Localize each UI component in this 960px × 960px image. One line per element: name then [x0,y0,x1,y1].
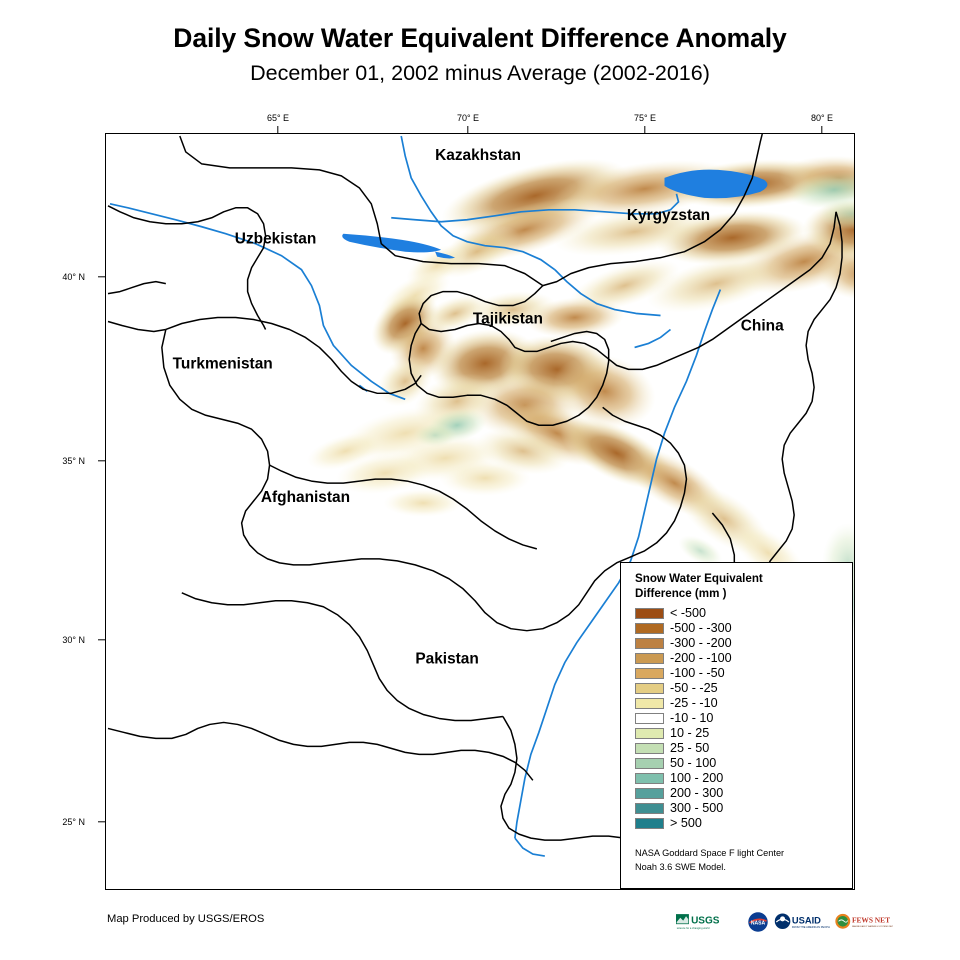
page-subtitle: December 01, 2002 minus Average (2002-20… [0,62,960,86]
svg-text:science for a changing world: science for a changing world [677,926,710,930]
title-block: Daily Snow Water Equivalent Difference A… [0,24,960,86]
svg-text:FAMINE EARLY WARNING SYSTEMS N: FAMINE EARLY WARNING SYSTEMS NETWORK [852,925,893,928]
longitude-tick-label: 80° E [811,113,833,123]
country-label-kyrgyzstan: Kyrgyzstan [627,207,710,224]
country-label-pakistan: Pakistan [415,651,478,668]
legend-color-swatch [635,773,664,784]
legend-color-swatch [635,608,664,619]
longitude-tick-mark [467,126,468,133]
country-label-kazakhstan: Kazakhstan [435,147,521,164]
latitude-tick-label: 35° N [62,456,85,466]
legend-class-row: -200 - -100 [635,651,852,666]
latitude-tick-label: 25° N [62,817,85,827]
legend-color-swatch [635,803,664,814]
legend-class-label: -100 - -50 [670,667,725,680]
map-legend: Snow Water Equivalent Difference (mm ) <… [620,562,853,889]
legend-class-row: 100 - 200 [635,771,852,786]
country-label-afghanistan: Afghanistan [261,489,350,506]
legend-class-row: -25 - -10 [635,696,852,711]
legend-class-row: -500 - -300 [635,621,852,636]
legend-class-label: 50 - 100 [670,757,716,770]
legend-class-row: 25 - 50 [635,741,852,756]
legend-class-label: -200 - -100 [670,652,732,665]
latitude-tick-label: 30° N [62,635,85,645]
country-label-tajikistan: Tajikistan [473,310,543,327]
legend-class-row: -100 - -50 [635,666,852,681]
legend-class-row: 10 - 25 [635,726,852,741]
country-label-china: China [741,317,784,334]
svg-text:FEWS NET: FEWS NET [852,916,890,925]
legend-credit-line1: NASA Goddard Space F light Center [635,847,784,860]
legend-class-label: 300 - 500 [670,802,723,815]
longitude-tick-mark [821,126,822,133]
latitude-tick-label: 40° N [62,272,85,282]
svg-text:USGS: USGS [691,915,720,926]
legend-credit-line2: Noah 3.6 SWE Model. [635,861,784,874]
legend-class-label: 25 - 50 [670,742,709,755]
legend-class-list: < -500-500 - -300-300 - -200-200 - -100-… [635,606,852,832]
legend-class-label: 200 - 300 [670,787,723,800]
page-title: Daily Snow Water Equivalent Difference A… [0,24,960,53]
country-label-turkmenistan: Turkmenistan [173,355,273,372]
legend-color-swatch [635,683,664,694]
legend-class-label: 100 - 200 [670,772,723,785]
legend-class-row: 300 - 500 [635,801,852,816]
legend-class-label: -50 - -25 [670,682,718,695]
country-label-uzbekistan: Uzbekistan [235,231,316,248]
legend-color-swatch [635,638,664,649]
legend-class-label: -500 - -300 [670,622,732,635]
legend-class-row: > 500 [635,816,852,831]
latitude-tick-mark [98,639,105,640]
legend-title-line1: Snow Water Equivalent [635,572,763,585]
legend-class-row: -300 - -200 [635,636,852,651]
usgs-logo: USGS science for a changing world [676,911,742,933]
legend-title: Snow Water Equivalent Difference (mm ) [635,571,835,602]
legend-color-swatch [635,653,664,664]
legend-title-line2: Difference (mm ) [635,587,726,600]
usaid-logo: USAID FROM THE AMERICAN PEOPLE [774,911,830,933]
longitude-tick-mark [644,126,645,133]
footer-credit: Map Produced by USGS/EROS [107,913,264,925]
legend-class-label: < -500 [670,607,706,620]
legend-color-swatch [635,788,664,799]
longitude-tick-label: 75° E [634,113,656,123]
svg-text:NASA: NASA [751,921,766,927]
legend-credit: NASA Goddard Space F light Center Noah 3… [635,847,784,874]
agency-logo-bar: USGS science for a changing world NASA U… [676,909,893,935]
legend-class-label: > 500 [670,817,702,830]
legend-class-label: -300 - -200 [670,637,732,650]
legend-class-row: 50 - 100 [635,756,852,771]
svg-text:FROM THE AMERICAN PEOPLE: FROM THE AMERICAN PEOPLE [792,925,830,929]
legend-color-swatch [635,668,664,679]
nasa-logo: NASA [747,911,769,933]
legend-class-row: < -500 [635,606,852,621]
latitude-tick-mark [98,821,105,822]
legend-class-label: -25 - -10 [670,697,718,710]
legend-class-label: -10 - 10 [670,712,713,725]
legend-class-label: 10 - 25 [670,727,709,740]
legend-class-row: -10 - 10 [635,711,852,726]
longitude-tick-label: 65° E [267,113,289,123]
legend-color-swatch [635,713,664,724]
legend-color-swatch [635,818,664,829]
longitude-tick-label: 70° E [457,113,479,123]
fewsnet-logo: FEWS NET FAMINE EARLY WARNING SYSTEMS NE… [835,911,893,933]
legend-color-swatch [635,698,664,709]
svg-text:USAID: USAID [792,916,821,926]
latitude-tick-mark [98,276,105,277]
latitude-tick-mark [98,460,105,461]
legend-color-swatch [635,728,664,739]
legend-class-row: -50 - -25 [635,681,852,696]
legend-color-swatch [635,743,664,754]
longitude-tick-mark [277,126,278,133]
legend-color-swatch [635,623,664,634]
legend-class-row: 200 - 300 [635,786,852,801]
legend-color-swatch [635,758,664,769]
